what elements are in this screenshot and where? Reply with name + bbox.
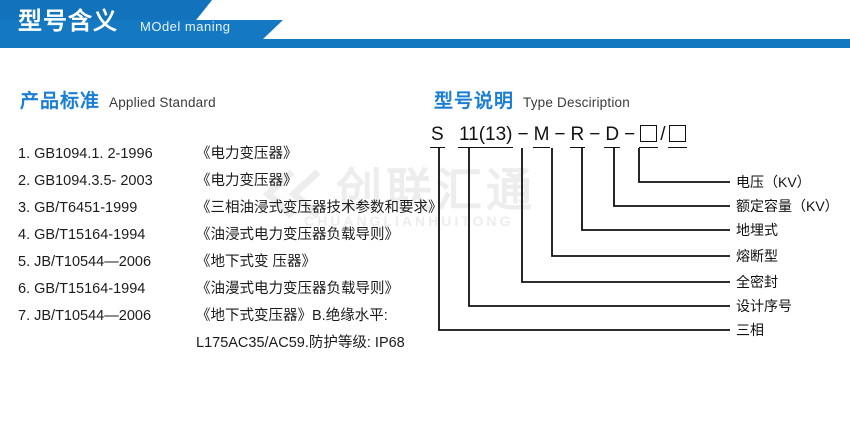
list-item: 7. JB/T10544—2006 《地下式变压器》B.绝缘水平: — [18, 304, 438, 331]
list-item: 5. JB/T10544—2006 《地下式变 压器》 — [18, 250, 438, 277]
standard-name: 《地下式变 压器》 — [196, 250, 316, 271]
type-title-cn: 型号说明 — [434, 91, 514, 112]
standards-title-en: Applied Standard — [109, 95, 216, 110]
list-item: 6. GB/T15164-1994 《油漫式电力变压器负载导则》 — [18, 277, 438, 304]
page-header-banner: 型号含义 MOdel maning — [0, 0, 850, 52]
banner-title: 型号含义 — [18, 7, 118, 37]
type-title-en: Type Desciription — [523, 95, 630, 110]
leader-three-phase — [439, 148, 730, 330]
label-capacity: 额定容量（KV） — [736, 198, 839, 214]
leader-lines — [430, 124, 850, 374]
leader-voltage — [639, 148, 730, 182]
type-section-heading: 型号说明Type Desciription — [434, 86, 630, 113]
standard-name: 《电力变压器》 — [196, 142, 298, 163]
label-voltage: 电压（KV） — [736, 174, 811, 190]
standards-title-cn: 产品标准 — [20, 91, 100, 112]
list-item: 3. GB/T6451-1999 《三相油浸式变压器技术参数和要求》 — [18, 196, 438, 223]
standard-name: 《电力变压器》 — [196, 169, 298, 190]
label-fuse-type: 熔断型 — [736, 248, 778, 264]
banner-subtitle: MOdel maning — [140, 17, 231, 37]
standard-code: 5. JB/T10544—2006 — [18, 254, 196, 270]
standard-code: 1. GB1094.1. 2-1996 — [18, 146, 196, 162]
banner-underbar — [0, 39, 850, 48]
standard-code: 2. GB1094.3.5- 2003 — [18, 173, 196, 189]
standard-name: 《三相油浸式变压器技术参数和要求》 — [196, 196, 443, 217]
leader-sealed — [522, 148, 730, 282]
label-three-phase: 三相 — [736, 322, 764, 338]
standard-code: 7. JB/T10544—2006 — [18, 308, 196, 324]
list-item: 1. GB1094.1. 2-1996 《电力变压器》 — [18, 142, 438, 169]
standard-continuation: L175AC35/AC59.防护等级: IP68 — [18, 331, 438, 358]
list-item: 4. GB/T15164-1994 《油浸式电力变压器负载导则》 — [18, 223, 438, 250]
standards-list: 1. GB1094.1. 2-1996 《电力变压器》 2. GB1094.3.… — [18, 142, 438, 358]
label-design-no: 设计序号 — [736, 298, 792, 314]
list-item: 2. GB1094.3.5- 2003 《电力变压器》 — [18, 169, 438, 196]
standard-name: 《油漫式电力变压器负载导则》 — [196, 277, 399, 298]
label-fully-sealed: 全密封 — [736, 274, 778, 290]
standard-name: 《地下式变压器》B.绝缘水平: — [196, 304, 388, 325]
standard-code: 6. GB/T15164-1994 — [18, 281, 196, 297]
standard-name: 《油浸式电力变压器负载导则》 — [196, 223, 399, 244]
label-buried-type: 地埋式 — [736, 222, 778, 238]
leader-capacity — [614, 148, 730, 206]
standard-code: 3. GB/T6451-1999 — [18, 200, 196, 216]
leader-buried — [582, 148, 730, 230]
standard-code: 4. GB/T15164-1994 — [18, 227, 196, 243]
leader-fuse — [552, 148, 730, 256]
standards-section-heading: 产品标准Applied Standard — [20, 86, 216, 113]
type-code-diagram: S 11(13) − M − R − D − / — [430, 124, 850, 384]
